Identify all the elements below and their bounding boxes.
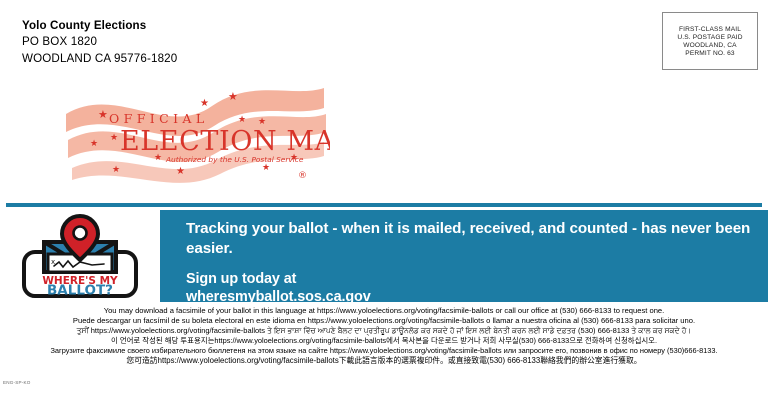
wmb-signature-x: x (51, 258, 55, 266)
permit-line-city: WOODLAND, CA (683, 42, 736, 49)
return-address-line1: PO BOX 1820 (22, 34, 177, 50)
svg-text:★: ★ (262, 163, 270, 173)
svg-text:★: ★ (200, 98, 209, 109)
svg-text:★: ★ (98, 108, 108, 121)
oem-top-word: OFFICIAL (109, 111, 209, 126)
svg-text:★: ★ (112, 165, 120, 175)
notice-english: You may download a facsimile of your bal… (0, 306, 768, 316)
banner-subhead: Sign up today at wheresmyballot.sos.ca.g… (186, 270, 754, 307)
wmb-map-pin-hole (74, 227, 87, 240)
banner-subhead-line1: Sign up today at (186, 270, 754, 289)
wheres-my-ballot-banner: x WHERE'S MY BALLOT? Tracking your ballo… (0, 210, 768, 302)
svg-text:★: ★ (238, 115, 246, 125)
official-election-mail-logo: ★ ★ ★ ★ ★ ★ ★ ★ ★ ★ ★ ★ OFFICIAL ELECTIO… (62, 68, 330, 192)
svg-text:★: ★ (176, 166, 185, 177)
notice-chinese: 您可造訪https://www.yoloelections.org/voting… (0, 356, 768, 366)
wheres-my-ballot-logo: x WHERE'S MY BALLOT? (0, 210, 160, 302)
postage-permit-indicia: FIRST-CLASS MAIL U.S. POSTAGE PAID WOODL… (662, 12, 758, 70)
notice-spanish: Puede descargar un facsímil de su boleta… (0, 316, 768, 326)
form-code-label: ENG-SP-KO (3, 380, 31, 385)
return-address-block: Yolo County Elections PO BOX 1820 WOODLA… (22, 18, 177, 67)
multilingual-notice-block: You may download a facsimile of your bal… (0, 306, 768, 366)
permit-line-postage: U.S. POSTAGE PAID (677, 34, 742, 41)
notice-russian: Загрузите факсимиле своего избирательног… (0, 346, 768, 356)
banner-text-block: Tracking your ballot - when it is mailed… (160, 210, 768, 302)
banner-headline: Tracking your ballot - when it is mailed… (186, 219, 754, 259)
envelope-face: Yolo County Elections PO BOX 1820 WOODLA… (0, 0, 768, 400)
oem-registered-mark: ® (298, 171, 307, 181)
oem-authorization-text: Authorized by the U.S. Postal Service (165, 155, 304, 164)
notice-korean: 이 언어로 작성된 해당 투표용지는https://www.yoloelecti… (0, 336, 768, 346)
notice-punjabi: ਤੁਸੀਂ https://www.yoloelections.org/voti… (0, 326, 768, 336)
oem-main-word: ELECTION MAIL (120, 126, 330, 157)
permit-line-class: FIRST-CLASS MAIL (679, 26, 741, 33)
banner-signup-url[interactable]: wheresmyballot.sos.ca.gov (186, 288, 754, 307)
wmb-wordmark-line2: BALLOT? (47, 283, 113, 299)
svg-text:★: ★ (90, 139, 98, 149)
return-address-organization: Yolo County Elections (22, 18, 177, 34)
return-address-line2: WOODLAND CA 95776-1820 (22, 51, 177, 67)
banner-divider-rule (6, 203, 762, 207)
svg-text:★: ★ (228, 90, 238, 103)
permit-line-number: PERMIT NO. 63 (685, 50, 734, 57)
svg-text:★: ★ (110, 133, 118, 143)
